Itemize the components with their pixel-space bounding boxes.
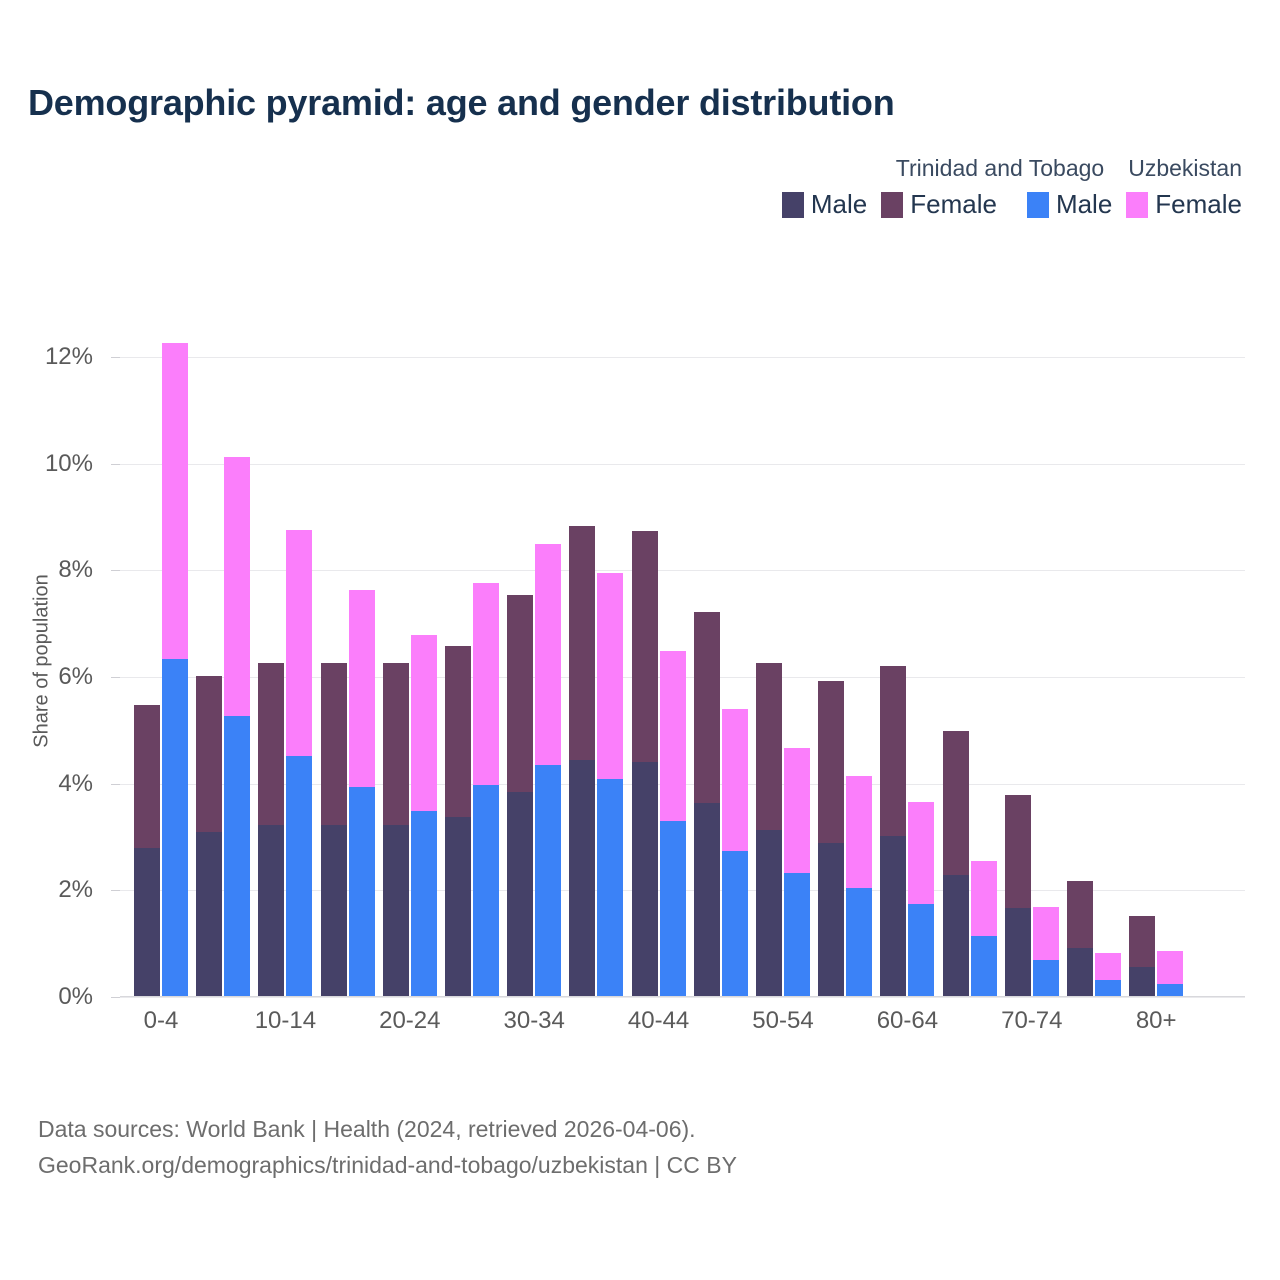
bar-segment-male[interactable] bbox=[660, 821, 686, 997]
bar-segment-male[interactable] bbox=[349, 787, 375, 997]
y-tick-label: 2% bbox=[0, 876, 93, 904]
bar-segment-male[interactable] bbox=[722, 851, 748, 997]
bar-segment-female[interactable] bbox=[694, 612, 720, 803]
bar-segment-female[interactable] bbox=[1095, 953, 1121, 980]
legend-group-titles: Trinidad and Tobago Uzbekistan bbox=[896, 155, 1242, 182]
bar-segment-male[interactable] bbox=[473, 785, 499, 997]
legend-swatch-trinidad-male bbox=[782, 192, 804, 218]
bar-segment-male[interactable] bbox=[908, 904, 934, 997]
bar-segment-female[interactable] bbox=[507, 595, 533, 792]
y-tick-mark bbox=[111, 890, 120, 891]
legend-item-uzbekistan-female[interactable]: Female bbox=[1126, 189, 1242, 220]
bar-segment-male[interactable] bbox=[1005, 908, 1031, 997]
legend-item-trinidad-male[interactable]: Male bbox=[782, 189, 867, 220]
bar-group bbox=[756, 325, 810, 997]
bar-segment-male[interactable] bbox=[846, 888, 872, 997]
bar-segment-female[interactable] bbox=[383, 663, 409, 825]
bar-segment-female[interactable] bbox=[258, 663, 284, 826]
bar-segment-female[interactable] bbox=[535, 544, 561, 765]
bar-segment-male[interactable] bbox=[943, 875, 969, 997]
legend-swatch-uzbekistan-male bbox=[1027, 192, 1049, 218]
bar-segment-female[interactable] bbox=[784, 748, 810, 873]
footer-line-attribution: GeoRank.org/demographics/trinidad-and-to… bbox=[38, 1148, 737, 1184]
bar-segment-female[interactable] bbox=[597, 573, 623, 779]
bar-segment-female[interactable] bbox=[349, 590, 375, 788]
bar-segment-female[interactable] bbox=[971, 861, 997, 936]
y-tick-mark bbox=[111, 464, 120, 465]
bar-group bbox=[818, 325, 872, 997]
bar-segment-male[interactable] bbox=[756, 830, 782, 997]
bar-group bbox=[196, 325, 250, 997]
y-tick-label: 12% bbox=[0, 343, 93, 371]
bar-segment-female[interactable] bbox=[286, 530, 312, 756]
bar-group bbox=[134, 325, 188, 997]
bar-segment-male[interactable] bbox=[1157, 984, 1183, 997]
bar-segment-male[interactable] bbox=[321, 825, 347, 997]
gridline bbox=[120, 997, 1245, 998]
bar-segment-female[interactable] bbox=[569, 526, 595, 760]
legend-item-trinidad-female[interactable]: Female bbox=[881, 189, 997, 220]
footer-line-data-sources: Data sources: World Bank | Health (2024,… bbox=[38, 1112, 737, 1148]
legend-label-uzbekistan-female: Female bbox=[1155, 189, 1242, 220]
bar-segment-male[interactable] bbox=[880, 836, 906, 997]
y-axis-label: Share of population bbox=[31, 574, 54, 747]
bar-segment-male[interactable] bbox=[535, 765, 561, 997]
x-tick-label: 20-24 bbox=[379, 1007, 440, 1035]
bar-segment-female[interactable] bbox=[411, 635, 437, 811]
y-tick-label: 10% bbox=[0, 450, 93, 478]
y-tick-mark bbox=[111, 784, 120, 785]
bar-segment-female[interactable] bbox=[846, 776, 872, 889]
bar-segment-female[interactable] bbox=[473, 583, 499, 785]
x-tick-label: 40-44 bbox=[628, 1007, 689, 1035]
bar-group bbox=[507, 325, 561, 997]
y-tick-mark bbox=[111, 997, 120, 998]
bar-segment-male[interactable] bbox=[1129, 967, 1155, 997]
bar-segment-male[interactable] bbox=[162, 659, 188, 997]
bar-segment-female[interactable] bbox=[224, 457, 250, 717]
bar-segment-male[interactable] bbox=[784, 873, 810, 997]
bar-segment-male[interactable] bbox=[286, 756, 312, 997]
bar-segment-male[interactable] bbox=[258, 825, 284, 997]
bar-segment-male[interactable] bbox=[411, 811, 437, 997]
chart-legend: Trinidad and Tobago Uzbekistan Male Fema… bbox=[782, 155, 1242, 220]
bar-segment-female[interactable] bbox=[1067, 881, 1093, 948]
bar-group bbox=[880, 325, 934, 997]
bar-segment-female[interactable] bbox=[908, 802, 934, 904]
chart-page: Demographic pyramid: age and gender dist… bbox=[0, 0, 1280, 1280]
bar-group bbox=[694, 325, 748, 997]
bar-segment-male[interactable] bbox=[1067, 948, 1093, 997]
bar-segment-female[interactable] bbox=[660, 651, 686, 821]
bar-segment-male[interactable] bbox=[597, 779, 623, 997]
bar-group bbox=[569, 325, 623, 997]
legend-item-uzbekistan-male[interactable]: Male bbox=[1027, 189, 1112, 220]
x-axis-line bbox=[120, 996, 1245, 997]
legend-group-title-trinidad: Trinidad and Tobago bbox=[896, 155, 1104, 182]
x-tick-label: 0-4 bbox=[144, 1007, 179, 1035]
bar-group bbox=[1067, 325, 1121, 997]
bar-segment-male[interactable] bbox=[818, 843, 844, 997]
bar-segment-male[interactable] bbox=[445, 817, 471, 997]
bar-segment-female[interactable] bbox=[1005, 795, 1031, 908]
bar-segment-female[interactable] bbox=[162, 343, 188, 659]
bar-segment-female[interactable] bbox=[943, 731, 969, 875]
bar-group bbox=[943, 325, 997, 997]
footer: Data sources: World Bank | Health (2024,… bbox=[38, 1112, 737, 1183]
bar-segment-male[interactable] bbox=[1033, 960, 1059, 997]
bar-segment-female[interactable] bbox=[196, 676, 222, 832]
bar-segment-male[interactable] bbox=[1095, 980, 1121, 997]
legend-label-trinidad-female: Female bbox=[910, 189, 997, 220]
bar-group bbox=[258, 325, 312, 997]
y-tick-label: 6% bbox=[0, 663, 93, 691]
legend-label-uzbekistan-male: Male bbox=[1056, 189, 1112, 220]
bar-segment-male[interactable] bbox=[694, 803, 720, 997]
bar-segment-female[interactable] bbox=[722, 709, 748, 851]
y-tick-label: 8% bbox=[0, 556, 93, 584]
x-tick-label: 10-14 bbox=[255, 1007, 316, 1035]
bar-segment-female[interactable] bbox=[756, 663, 782, 830]
plot-area: Share of population 0%2%4%6%8%10%12% 0-4… bbox=[120, 325, 1245, 997]
bar-segment-female[interactable] bbox=[818, 681, 844, 843]
bar-group bbox=[321, 325, 375, 997]
legend-label-trinidad-male: Male bbox=[811, 189, 867, 220]
x-tick-label: 50-54 bbox=[752, 1007, 813, 1035]
bar-segment-female[interactable] bbox=[632, 531, 658, 762]
bar-segment-male[interactable] bbox=[632, 762, 658, 997]
bar-segment-female[interactable] bbox=[880, 666, 906, 837]
y-tick-label: 4% bbox=[0, 770, 93, 798]
bar-segment-female[interactable] bbox=[1157, 951, 1183, 984]
x-tick-label: 60-64 bbox=[877, 1007, 938, 1035]
bar-segment-male[interactable] bbox=[971, 936, 997, 997]
bar-segment-female[interactable] bbox=[445, 646, 471, 818]
bar-segment-male[interactable] bbox=[569, 760, 595, 997]
y-tick-label: 0% bbox=[0, 983, 93, 1011]
bar-segment-male[interactable] bbox=[507, 792, 533, 997]
bar-segment-male[interactable] bbox=[134, 848, 160, 997]
bar-segment-female[interactable] bbox=[321, 663, 347, 826]
bar-group bbox=[445, 325, 499, 997]
y-tick-mark bbox=[111, 570, 120, 571]
bar-group bbox=[632, 325, 686, 997]
bar-segment-male[interactable] bbox=[196, 832, 222, 997]
bars-layer bbox=[120, 325, 1245, 997]
bar-segment-male[interactable] bbox=[383, 825, 409, 997]
page-title: Demographic pyramid: age and gender dist… bbox=[28, 82, 895, 124]
y-tick-mark bbox=[111, 677, 120, 678]
bar-group bbox=[383, 325, 437, 997]
legend-swatch-trinidad-female bbox=[881, 192, 903, 218]
legend-items: Male Female Male Female bbox=[782, 189, 1242, 220]
x-tick-label: 30-34 bbox=[503, 1007, 564, 1035]
bar-segment-female[interactable] bbox=[134, 705, 160, 848]
bar-group bbox=[1129, 325, 1183, 997]
x-tick-label: 80+ bbox=[1136, 1007, 1177, 1035]
y-tick-mark bbox=[111, 357, 120, 358]
bar-segment-female[interactable] bbox=[1033, 907, 1059, 960]
bar-group bbox=[1005, 325, 1059, 997]
bar-segment-female[interactable] bbox=[1129, 916, 1155, 967]
legend-swatch-uzbekistan-female bbox=[1126, 192, 1148, 218]
x-tick-label: 70-74 bbox=[1001, 1007, 1062, 1035]
bar-segment-male[interactable] bbox=[224, 716, 250, 997]
legend-group-title-uzbekistan: Uzbekistan bbox=[1128, 155, 1242, 182]
